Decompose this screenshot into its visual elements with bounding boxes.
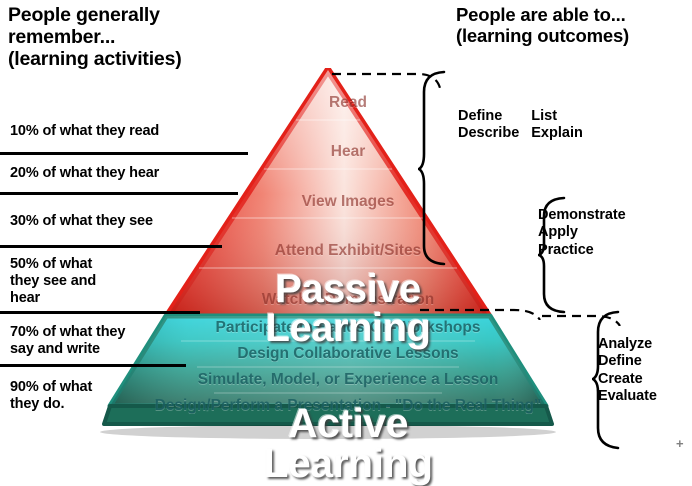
activity-label-do: 90% of what they do.: [10, 379, 92, 413]
outcome-remember-col1: Define Describe: [458, 108, 519, 143]
divider-seehear-saywrite: [0, 311, 200, 314]
activity-label-read: 10% of what they read: [10, 123, 159, 140]
infographic-root: People generally remember... (learning a…: [0, 0, 692, 459]
left-column-heading: People generally remember... (learning a…: [8, 5, 182, 70]
outcome-remember-col2: List Explain: [531, 108, 583, 143]
outcome-group-apply: Demonstrate Apply Practice: [538, 207, 626, 259]
pyramid-base-plate: [104, 406, 552, 424]
leader-dash-middle: [418, 298, 558, 320]
activity-label-say-and-write: 70% of what they say and write: [10, 324, 125, 358]
activity-label-hear: 20% of what they hear: [10, 165, 159, 182]
divider-see-seehear: [0, 245, 222, 248]
outcome-group-remember: Define Describe List Explain: [458, 108, 583, 143]
divider-saywrite-do: [0, 364, 186, 367]
right-column-heading: People are able to... (learning outcomes…: [456, 5, 629, 46]
pyramid-shadow: [100, 425, 556, 439]
corner-plus-mark: +: [676, 436, 684, 451]
divider-read-hear: [0, 152, 248, 155]
outcome-group-create: Analyze Define Create Evaluate: [598, 336, 657, 406]
divider-hear-see: [0, 192, 238, 195]
activity-label-see: 30% of what they see: [10, 213, 153, 230]
brace-outcomes-remember: [418, 70, 454, 266]
activity-label-see-and-hear: 50% of what they see and hear: [10, 256, 96, 306]
